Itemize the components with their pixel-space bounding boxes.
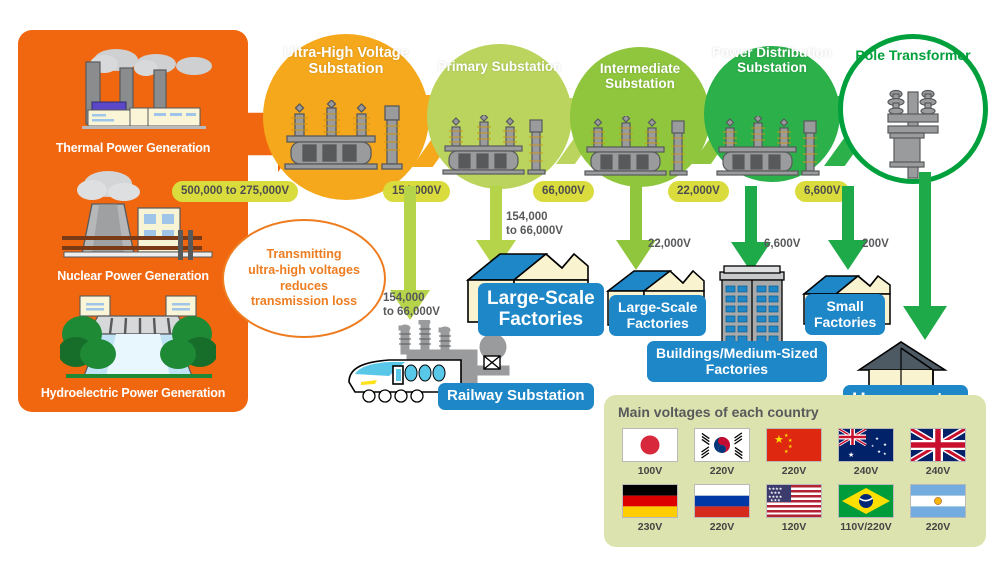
country-cell-germany: 230V <box>614 484 686 533</box>
drop-voltage-label-homes: 200V <box>862 238 889 252</box>
flag-united-states-icon: ★★★★★★★ ★★★★★★★ <box>766 484 822 518</box>
station-title-text-2: Intermediate Substation <box>600 61 680 91</box>
station-title-text-1: Primary Substation <box>438 59 562 74</box>
country-cell-china: ★ ★ ★ ★ ★ 220V <box>758 428 830 477</box>
svg-text:★: ★ <box>784 449 789 455</box>
country-voltage-united-kingdom: 240V <box>902 465 974 477</box>
station-title-text-3: Power Distribution Substation <box>712 45 832 75</box>
generation-label-hydro: Hydroelectric Power Generation <box>18 386 248 400</box>
flag-brazil-icon <box>838 484 894 518</box>
country-voltage-japan: 100V <box>614 465 686 477</box>
down-arrow-buildings <box>731 186 771 272</box>
svg-text:★: ★ <box>788 444 793 450</box>
consumer-label-railway-substation: Railway Substation <box>438 383 594 410</box>
station-title-power-distribution: Power Distribution Substation <box>704 46 840 75</box>
country-panel-title: Main voltages of each country <box>618 404 819 420</box>
station-title-intermediate: Intermediate Substation <box>570 62 710 91</box>
country-cell-argentina: 220V <box>902 484 974 533</box>
svg-text:★: ★ <box>877 449 881 454</box>
drop-voltage-line-b: to 66,000V <box>383 306 440 320</box>
station-title-pole-transformer: Pole Transformer <box>838 48 988 63</box>
country-cell-united-kingdom: 240V <box>902 428 974 477</box>
country-voltage-panel: Main voltages of each country 100V <box>604 395 986 547</box>
substation-transformer-icon <box>442 115 552 177</box>
svg-text:★: ★ <box>875 436 879 441</box>
flag-germany-icon <box>622 484 678 518</box>
down-arrow-homes <box>903 172 947 340</box>
drop-voltage-line-a2: 154,000 <box>506 211 563 225</box>
svg-text:★: ★ <box>848 451 854 459</box>
country-cell-australia: ★ ★ ★ ★ ★ ★ 240V <box>830 428 902 477</box>
svg-text:★: ★ <box>774 434 784 446</box>
flag-russia-icon <box>694 484 750 518</box>
country-voltage-russia: 220V <box>686 521 758 533</box>
thermal-plant-icon <box>44 42 224 142</box>
country-voltage-united-states: 120V <box>758 521 830 533</box>
svg-text:★: ★ <box>883 442 887 447</box>
substation-transformer-icon <box>283 100 411 170</box>
svg-text:★: ★ <box>883 451 887 456</box>
generation-label-nuclear: Nuclear Power Generation <box>18 269 248 283</box>
consumer-label-buildings: Buildings/Medium-SizedFactories <box>647 341 827 382</box>
consumer-label-large-factories-2: Large-ScaleFactories <box>609 295 706 336</box>
station-title-ultra-high-voltage: Ultra-High Voltage Substation <box>263 46 429 77</box>
line-voltage-pill-2: 66,000V <box>533 181 594 202</box>
substation-transformer-icon <box>584 116 694 178</box>
country-voltage-south-korea: 220V <box>686 465 758 477</box>
country-cell-south-korea: 220V <box>686 428 758 477</box>
station-title-text-0: Ultra-High Voltage Substation <box>283 45 408 77</box>
country-row-1: 100V <box>614 428 976 477</box>
country-cell-japan: 100V <box>614 428 686 477</box>
country-voltage-germany: 230V <box>614 521 686 533</box>
station-title-primary: Primary Substation <box>427 60 572 75</box>
country-voltage-argentina: 220V <box>902 521 974 533</box>
country-voltage-china: 220V <box>758 465 830 477</box>
line-voltage-pill-0: 500,000 to 275,000V <box>172 181 298 202</box>
drop-voltage-line-a: 154,000 <box>383 292 440 306</box>
svg-text:★★★: ★★★ <box>770 498 781 503</box>
country-voltage-brazil: 110V/220V <box>830 521 902 533</box>
country-cell-russia: 220V <box>686 484 758 533</box>
country-row-2: 230V 220V <box>614 484 976 533</box>
flag-united-kingdom-icon <box>910 428 966 462</box>
generation-label-thermal: Thermal Power Generation <box>18 141 248 155</box>
pole-transformer-icon <box>882 86 954 180</box>
consumer-label-small-factories: SmallFactories <box>805 294 885 335</box>
country-cell-brazil: 110V/220V <box>830 484 902 533</box>
down-arrow-small-factories <box>828 186 868 270</box>
substation-transformer-icon <box>716 116 826 178</box>
flag-australia-icon: ★ ★ ★ ★ ★ ★ <box>838 428 894 462</box>
transmission-note-text: Transmittingultra-high voltagesreducestr… <box>248 247 360 310</box>
svg-text:★: ★ <box>871 444 874 448</box>
drop-voltage-label-large-1: 154,000 to 66,000V <box>506 211 563 239</box>
hydro-dam-icon <box>60 290 216 382</box>
flag-argentina-icon <box>910 484 966 518</box>
flag-japan-icon <box>622 428 678 462</box>
power-grid-diagram: Thermal Power Generation Nuclear Power G… <box>0 0 1000 563</box>
drop-voltage-label-railway: 154,000 to 66,000V <box>383 292 440 320</box>
down-arrow-large-factories-2 <box>616 186 656 270</box>
drop-voltage-label-large-2: 22,000V <box>648 238 691 252</box>
line-voltage-pill-3: 22,000V <box>668 181 729 202</box>
consumer-label-large-factories-1: Large-ScaleFactories <box>478 283 604 336</box>
station-title-text-4: Pole Transformer <box>855 47 970 63</box>
country-cell-united-states: ★★★★★★★ ★★★★★★★ 120V <box>758 484 830 533</box>
drop-voltage-label-buildings: 6,600V <box>764 238 800 252</box>
flag-south-korea-icon <box>694 428 750 462</box>
drop-voltage-line-b2: to 66,000V <box>506 225 563 239</box>
flag-china-icon: ★ ★ ★ ★ ★ <box>766 428 822 462</box>
country-voltage-australia: 240V <box>830 465 902 477</box>
